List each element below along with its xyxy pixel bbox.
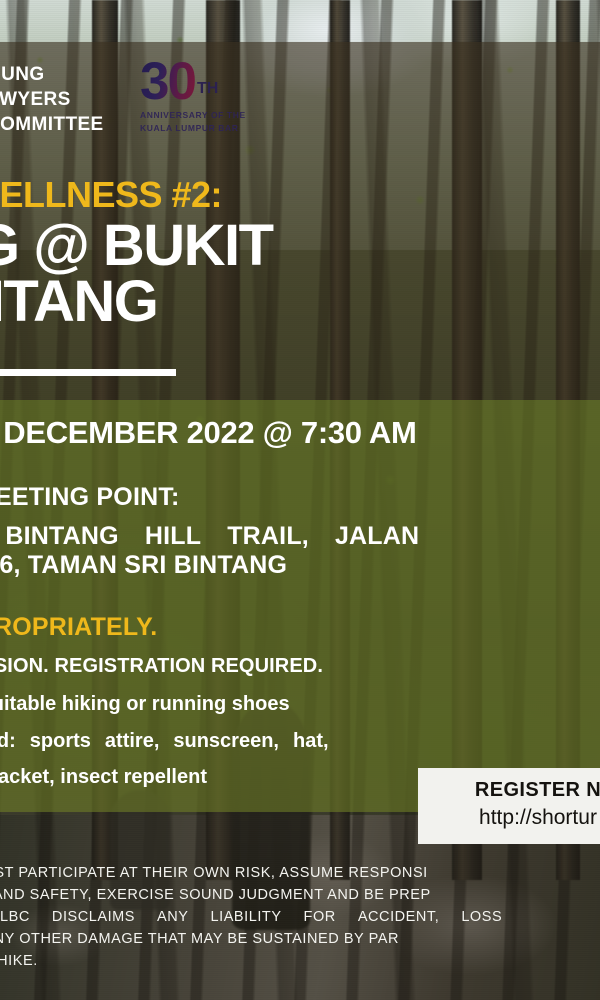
young-lawyers-committee-logo: OUNG AWYERS COMMITTEE <box>0 62 126 137</box>
required-gear-note: d: Suitable hiking or running shoes <box>0 693 290 716</box>
gear-token: hat, <box>293 730 329 752</box>
disclaimer-token: FOR <box>304 906 336 928</box>
recommended-gear-note-line1: nended:sportsattire,sunscreen,hat, <box>0 730 329 753</box>
address-token: BINTANG <box>5 522 118 551</box>
anniversary-30th-logo: 30TH ANNIVERSARY OF THE KUALA LUMPUR BAR <box>140 55 250 143</box>
address-token: JALAN <box>335 522 419 551</box>
register-url-link[interactable]: http://shortur <box>418 806 600 830</box>
headline-title: ING @ BUKIT BINTANG <box>0 218 600 331</box>
gear-token: sunscreen, <box>173 730 279 752</box>
disclaimer-token: DISCLAIMS <box>52 906 135 928</box>
recommended-gear-note-line2: roof jacket, insect repellent <box>0 766 207 789</box>
disclaimer-token: KLBC <box>0 906 30 928</box>
register-now-label: REGISTER N <box>418 779 600 802</box>
disclaimer-line-5: IN THE HIKE. <box>0 950 600 972</box>
address-token: HILL <box>145 522 201 551</box>
disclaimer-line-1: ITS MUST PARTICIPATE AT THEIR OWN RISK, … <box>0 862 600 884</box>
disclaimer-line-3: NS.KLBCDISCLAIMSANYLIABILITYFORACCIDENT,… <box>0 906 600 928</box>
logo-line-1: OUNG <box>0 62 126 87</box>
title-underline-rule <box>0 369 176 376</box>
address-token: TRAIL, <box>227 522 309 551</box>
anniversary-ordinal: TH <box>197 80 218 98</box>
disclaimer-token: LIABILITY <box>211 906 282 928</box>
register-now-box[interactable]: REGISTER N http://shortur <box>418 768 600 844</box>
disclaimer-token: ANY <box>157 906 188 928</box>
disclaimer-line-2: TIONS AND SAFETY, EXERCISE SOUND JUDGMEN… <box>0 884 600 906</box>
disclaimer-text: ITS MUST PARTICIPATE AT THEIR OWN RISK, … <box>0 862 600 972</box>
headline-title-line1: ING @ BUKIT <box>0 213 273 278</box>
disclaimer-token: LOSS <box>461 906 502 928</box>
headline-title-line2: BINTANG <box>0 274 600 330</box>
anniversary-subtitle-line1: ANNIVERSARY OF THE <box>140 110 250 121</box>
meeting-point-address-line1: RIBINTANGHILLTRAIL,JALAN <box>0 522 600 551</box>
headline-kicker: WELLNESS #2: <box>0 176 600 214</box>
poster-content: OUNG AWYERS COMMITTEE 30TH ANNIVERSARY O… <box>0 0 600 1000</box>
gear-token: nended: <box>0 730 16 752</box>
logo-line-2: AWYERS <box>0 87 126 112</box>
headline-block: WELLNESS #2: ING @ BUKIT BINTANG <box>0 176 600 331</box>
gear-token: sports <box>30 730 91 752</box>
event-datetime: 0 DECEMBER 2022 @ 7:30 AM <box>0 415 417 451</box>
anniversary-subtitle-line2: KUALA LUMPUR BAR <box>140 123 250 134</box>
disclaimer-token: ACCIDENT, <box>358 906 440 928</box>
admission-note: MISSION. REGISTRATION REQUIRED. <box>0 655 323 678</box>
disclaimer-line-4: E OR ANY OTHER DAMAGE THAT MAY BE SUSTAI… <box>0 928 600 950</box>
gear-token: attire, <box>105 730 159 752</box>
event-poster: OUNG AWYERS COMMITTEE 30TH ANNIVERSARY O… <box>0 0 600 1000</box>
logo-line-3: COMMITTEE <box>0 112 126 137</box>
anniversary-number: 30 <box>140 55 195 108</box>
dress-code-note: APPROPRIATELY. <box>0 613 157 642</box>
meeting-point-label: MEETING POINT: <box>0 483 180 512</box>
meeting-point-address-line2: 1/36, TAMAN SRI BINTANG <box>0 551 287 580</box>
